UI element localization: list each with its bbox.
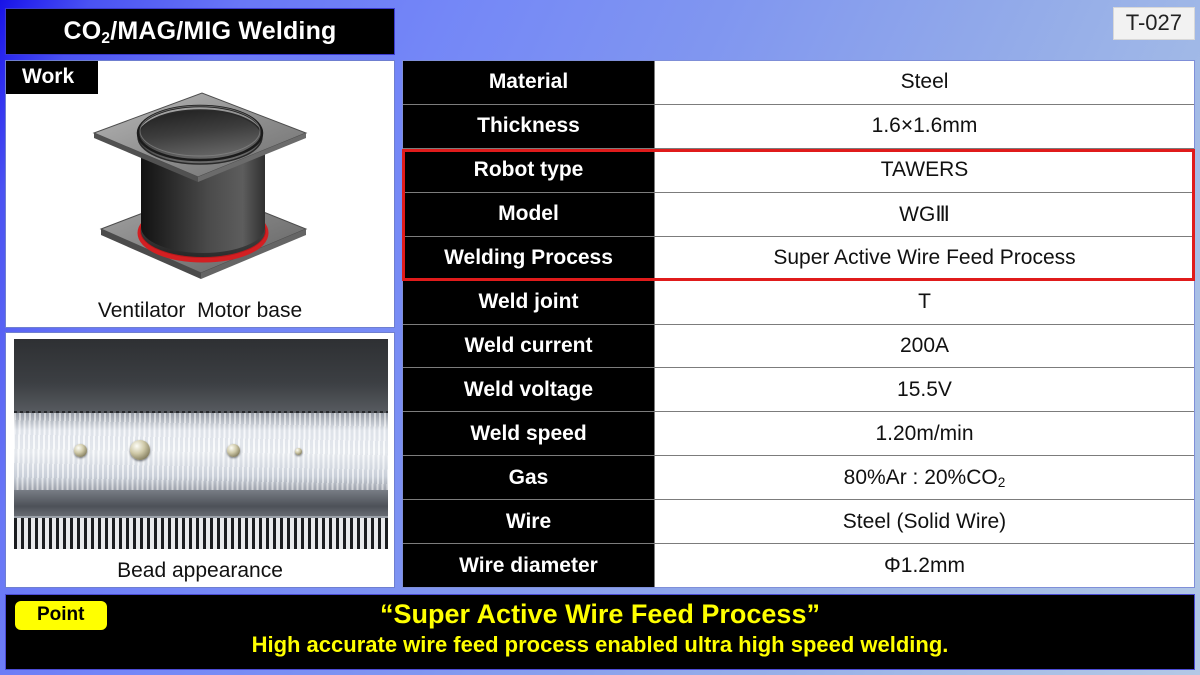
bead-photo-weld-bead bbox=[14, 413, 388, 493]
spec-value-text: 80%Ar : 20%CO bbox=[844, 466, 998, 490]
spec-row: Thickness1.6×1.6mm bbox=[403, 105, 1194, 149]
title-suffix: /MAG/MIG Welding bbox=[110, 17, 336, 45]
spec-row-value: 15.5V bbox=[655, 368, 1194, 411]
slide-root: CO2/MAG/MIG Welding T-027 Work bbox=[0, 0, 1200, 675]
spec-row-label: Welding Process bbox=[403, 237, 655, 280]
spec-row-label: Weld voltage bbox=[403, 368, 655, 411]
spec-row: Gas80%Ar : 20%CO2 bbox=[403, 456, 1194, 500]
spec-row-value: 1.6×1.6mm bbox=[655, 105, 1194, 148]
bead-photo-upper-plate bbox=[14, 339, 388, 419]
spec-row-label: Robot type bbox=[403, 149, 655, 192]
spec-row-value: Super Active Wire Feed Process bbox=[655, 237, 1194, 280]
spec-row: Weld jointT bbox=[403, 281, 1194, 325]
left-column: Work bbox=[5, 60, 395, 588]
spatter-ball bbox=[130, 440, 150, 460]
spec-row: Weld current200A bbox=[403, 325, 1194, 369]
spec-row-value: TAWERS bbox=[655, 149, 1194, 192]
spec-row-label: Wire bbox=[403, 500, 655, 543]
point-subline: High accurate wire feed process enabled … bbox=[6, 632, 1194, 658]
spec-row-label: Weld joint bbox=[403, 281, 655, 324]
spec-row-value: 80%Ar : 20%CO2 bbox=[655, 456, 1194, 499]
spec-row-value: 200A bbox=[655, 325, 1194, 368]
spec-row-value: Steel bbox=[655, 61, 1194, 104]
spec-row-value: Φ1.2mm bbox=[655, 544, 1194, 587]
work-panel-caption: Ventilator Motor base bbox=[6, 299, 394, 323]
spec-row: WireSteel (Solid Wire) bbox=[403, 500, 1194, 544]
spec-row-value: Steel (Solid Wire) bbox=[655, 500, 1194, 543]
spec-value-subscript: 2 bbox=[998, 475, 1006, 490]
welding-spec-table: MaterialSteelThickness1.6×1.6mmRobot typ… bbox=[402, 60, 1195, 588]
ventilator-motor-base-illustration bbox=[6, 81, 395, 291]
bead-panel-caption: Bead appearance bbox=[6, 559, 394, 583]
spec-row: MaterialSteel bbox=[403, 61, 1194, 105]
point-bar: Point “Super Active Wire Feed Process” H… bbox=[5, 594, 1195, 670]
spec-row: Wire diameterΦ1.2mm bbox=[403, 544, 1194, 587]
spec-row-label: Wire diameter bbox=[403, 544, 655, 587]
spec-row-label: Thickness bbox=[403, 105, 655, 148]
bead-panel: Bead appearance bbox=[5, 332, 395, 588]
spec-row: Welding ProcessSuper Active Wire Feed Pr… bbox=[403, 237, 1194, 281]
slide-code-badge: T-027 bbox=[1113, 7, 1195, 40]
spec-row: Robot typeTAWERS bbox=[403, 149, 1194, 193]
spec-row-label: Weld current bbox=[403, 325, 655, 368]
spec-row: Weld voltage15.5V bbox=[403, 368, 1194, 412]
spec-row-label: Material bbox=[403, 61, 655, 104]
spec-row-value: 1.20m/min bbox=[655, 412, 1194, 455]
page-title: CO2/MAG/MIG Welding bbox=[63, 17, 336, 46]
bead-photo-lower-plate bbox=[14, 490, 388, 517]
point-text-block: “Super Active Wire Feed Process” High ac… bbox=[6, 598, 1194, 658]
spatter-ball bbox=[74, 444, 87, 457]
point-headline: “Super Active Wire Feed Process” bbox=[6, 598, 1194, 632]
spec-row-label: Model bbox=[403, 193, 655, 236]
work-panel: Work bbox=[5, 60, 395, 328]
spec-row-label: Gas bbox=[403, 456, 655, 499]
title-subscript: 2 bbox=[101, 30, 110, 47]
bead-appearance-photo bbox=[14, 339, 388, 549]
title-prefix: CO bbox=[63, 17, 101, 45]
work-badge: Work bbox=[6, 61, 98, 94]
spec-row: Weld speed1.20m/min bbox=[403, 412, 1194, 456]
spec-row: ModelWGⅢ bbox=[403, 193, 1194, 237]
spatter-ball bbox=[295, 448, 302, 455]
spec-row-value: WGⅢ bbox=[655, 193, 1194, 236]
spec-row-label: Weld speed bbox=[403, 412, 655, 455]
spec-row-value: T bbox=[655, 281, 1194, 324]
slide-title-bar: CO2/MAG/MIG Welding bbox=[5, 8, 395, 55]
bead-photo-scale-ruler bbox=[14, 516, 388, 550]
